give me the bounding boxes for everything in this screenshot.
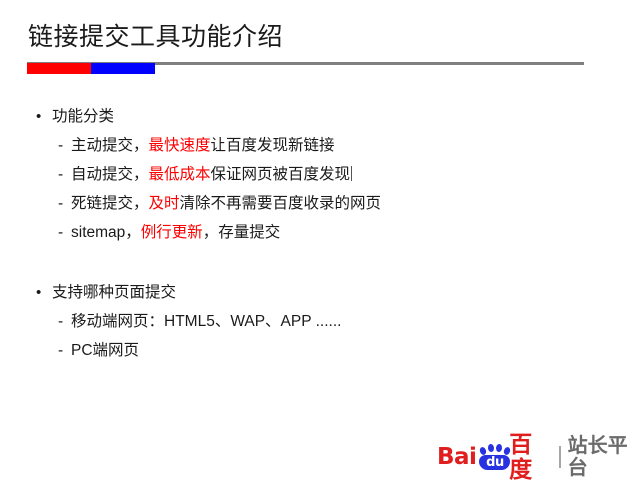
- divider-blue-bar: [91, 63, 155, 74]
- logo-wordmark-latin: Bai: [437, 445, 476, 469]
- bullet-heading-text: 功能分类: [52, 104, 114, 130]
- paw-print-icon: du: [477, 443, 508, 471]
- plain-phrase: 让百度发现新链接: [211, 137, 335, 154]
- group-spacer: [36, 248, 606, 280]
- plain-phrase: PC端网页: [71, 342, 139, 359]
- plain-phrase: ，存量提交: [203, 224, 281, 241]
- sub-bullet-row: -PC端网页: [36, 337, 606, 366]
- text-cursor-caret: [351, 166, 352, 181]
- sub-bullet-row: -移动端网页：HTML5、WAP、APP ......: [36, 308, 606, 337]
- sub-bullet-text: PC端网页: [71, 337, 139, 364]
- logo-wordmark-chinese: 百度: [509, 432, 551, 480]
- bullet-group: •支持哪种页面提交-移动端网页：HTML5、WAP、APP ......-PC端…: [36, 280, 606, 366]
- sub-bullet-dash-icon: -: [58, 132, 71, 159]
- plain-phrase: 移动端网页：HTML5、WAP、APP ......: [71, 313, 341, 330]
- sub-bullet-row: -主动提交，最快速度让百度发现新链接: [36, 132, 606, 161]
- sub-bullet-dash-icon: -: [58, 161, 71, 188]
- sub-bullet-text: sitemap，例行更新，存量提交: [71, 219, 280, 246]
- sub-bullet-dash-icon: -: [58, 190, 71, 217]
- highlighted-phrase: 及时: [149, 195, 180, 212]
- plain-phrase: 主动提交，: [71, 137, 149, 154]
- bullet-heading-row: •支持哪种页面提交: [36, 280, 606, 308]
- logo-paw-text: du: [479, 455, 510, 470]
- highlighted-phrase: 最快速度: [149, 137, 211, 154]
- bullet-heading-row: •功能分类: [36, 104, 606, 132]
- title-underline-group: [27, 62, 584, 74]
- highlighted-phrase: 最低成本: [149, 166, 211, 183]
- plain-phrase: 自动提交，: [71, 166, 149, 183]
- bullet-heading-text: 支持哪种页面提交: [52, 280, 176, 306]
- sub-bullet-text: 自动提交，最低成本保证网页被百度发现: [71, 161, 352, 188]
- logo-divider: [559, 446, 561, 468]
- sub-bullet-row: -死链提交，及时清除不再需要百度收录的网页: [36, 190, 606, 219]
- bullet-marker-icon: •: [36, 280, 52, 306]
- plain-phrase: 保证网页被百度发现: [211, 166, 351, 183]
- plain-phrase: 清除不再需要百度收录的网页: [180, 195, 382, 212]
- bullet-group: •功能分类-主动提交，最快速度让百度发现新链接-自动提交，最低成本保证网页被百度…: [36, 104, 606, 248]
- sub-bullet-text: 死链提交，及时清除不再需要百度收录的网页: [71, 190, 381, 217]
- sub-bullet-text: 主动提交，最快速度让百度发现新链接: [71, 132, 335, 159]
- highlighted-phrase: 例行更新: [141, 224, 203, 241]
- presentation-slide: 链接提交工具功能介绍 •功能分类-主动提交，最快速度让百度发现新链接-自动提交，…: [0, 0, 640, 480]
- bullet-marker-icon: •: [36, 104, 52, 130]
- sub-bullet-dash-icon: -: [58, 308, 71, 335]
- divider-red-bar: [27, 63, 91, 74]
- slide-body: •功能分类-主动提交，最快速度让百度发现新链接-自动提交，最低成本保证网页被百度…: [36, 104, 606, 366]
- paw-toe-icon: [496, 444, 503, 453]
- page-title: 链接提交工具功能介绍: [28, 20, 588, 54]
- sub-bullet-row: -自动提交，最低成本保证网页被百度发现: [36, 161, 606, 190]
- slide-title-block: 链接提交工具功能介绍: [28, 20, 588, 54]
- paw-toe-icon: [488, 444, 495, 453]
- plain-phrase: 死链提交，: [71, 195, 149, 212]
- baidu-zhanzhang-logo: Bai du 百度 站长平台: [437, 442, 640, 472]
- plain-phrase: sitemap，: [71, 224, 141, 241]
- sub-bullet-row: -sitemap，例行更新，存量提交: [36, 219, 606, 248]
- sub-bullet-dash-icon: -: [58, 337, 71, 364]
- sub-bullet-dash-icon: -: [58, 219, 71, 246]
- logo-subbrand: 站长平台: [568, 435, 640, 479]
- sub-bullet-text: 移动端网页：HTML5、WAP、APP ......: [71, 308, 341, 335]
